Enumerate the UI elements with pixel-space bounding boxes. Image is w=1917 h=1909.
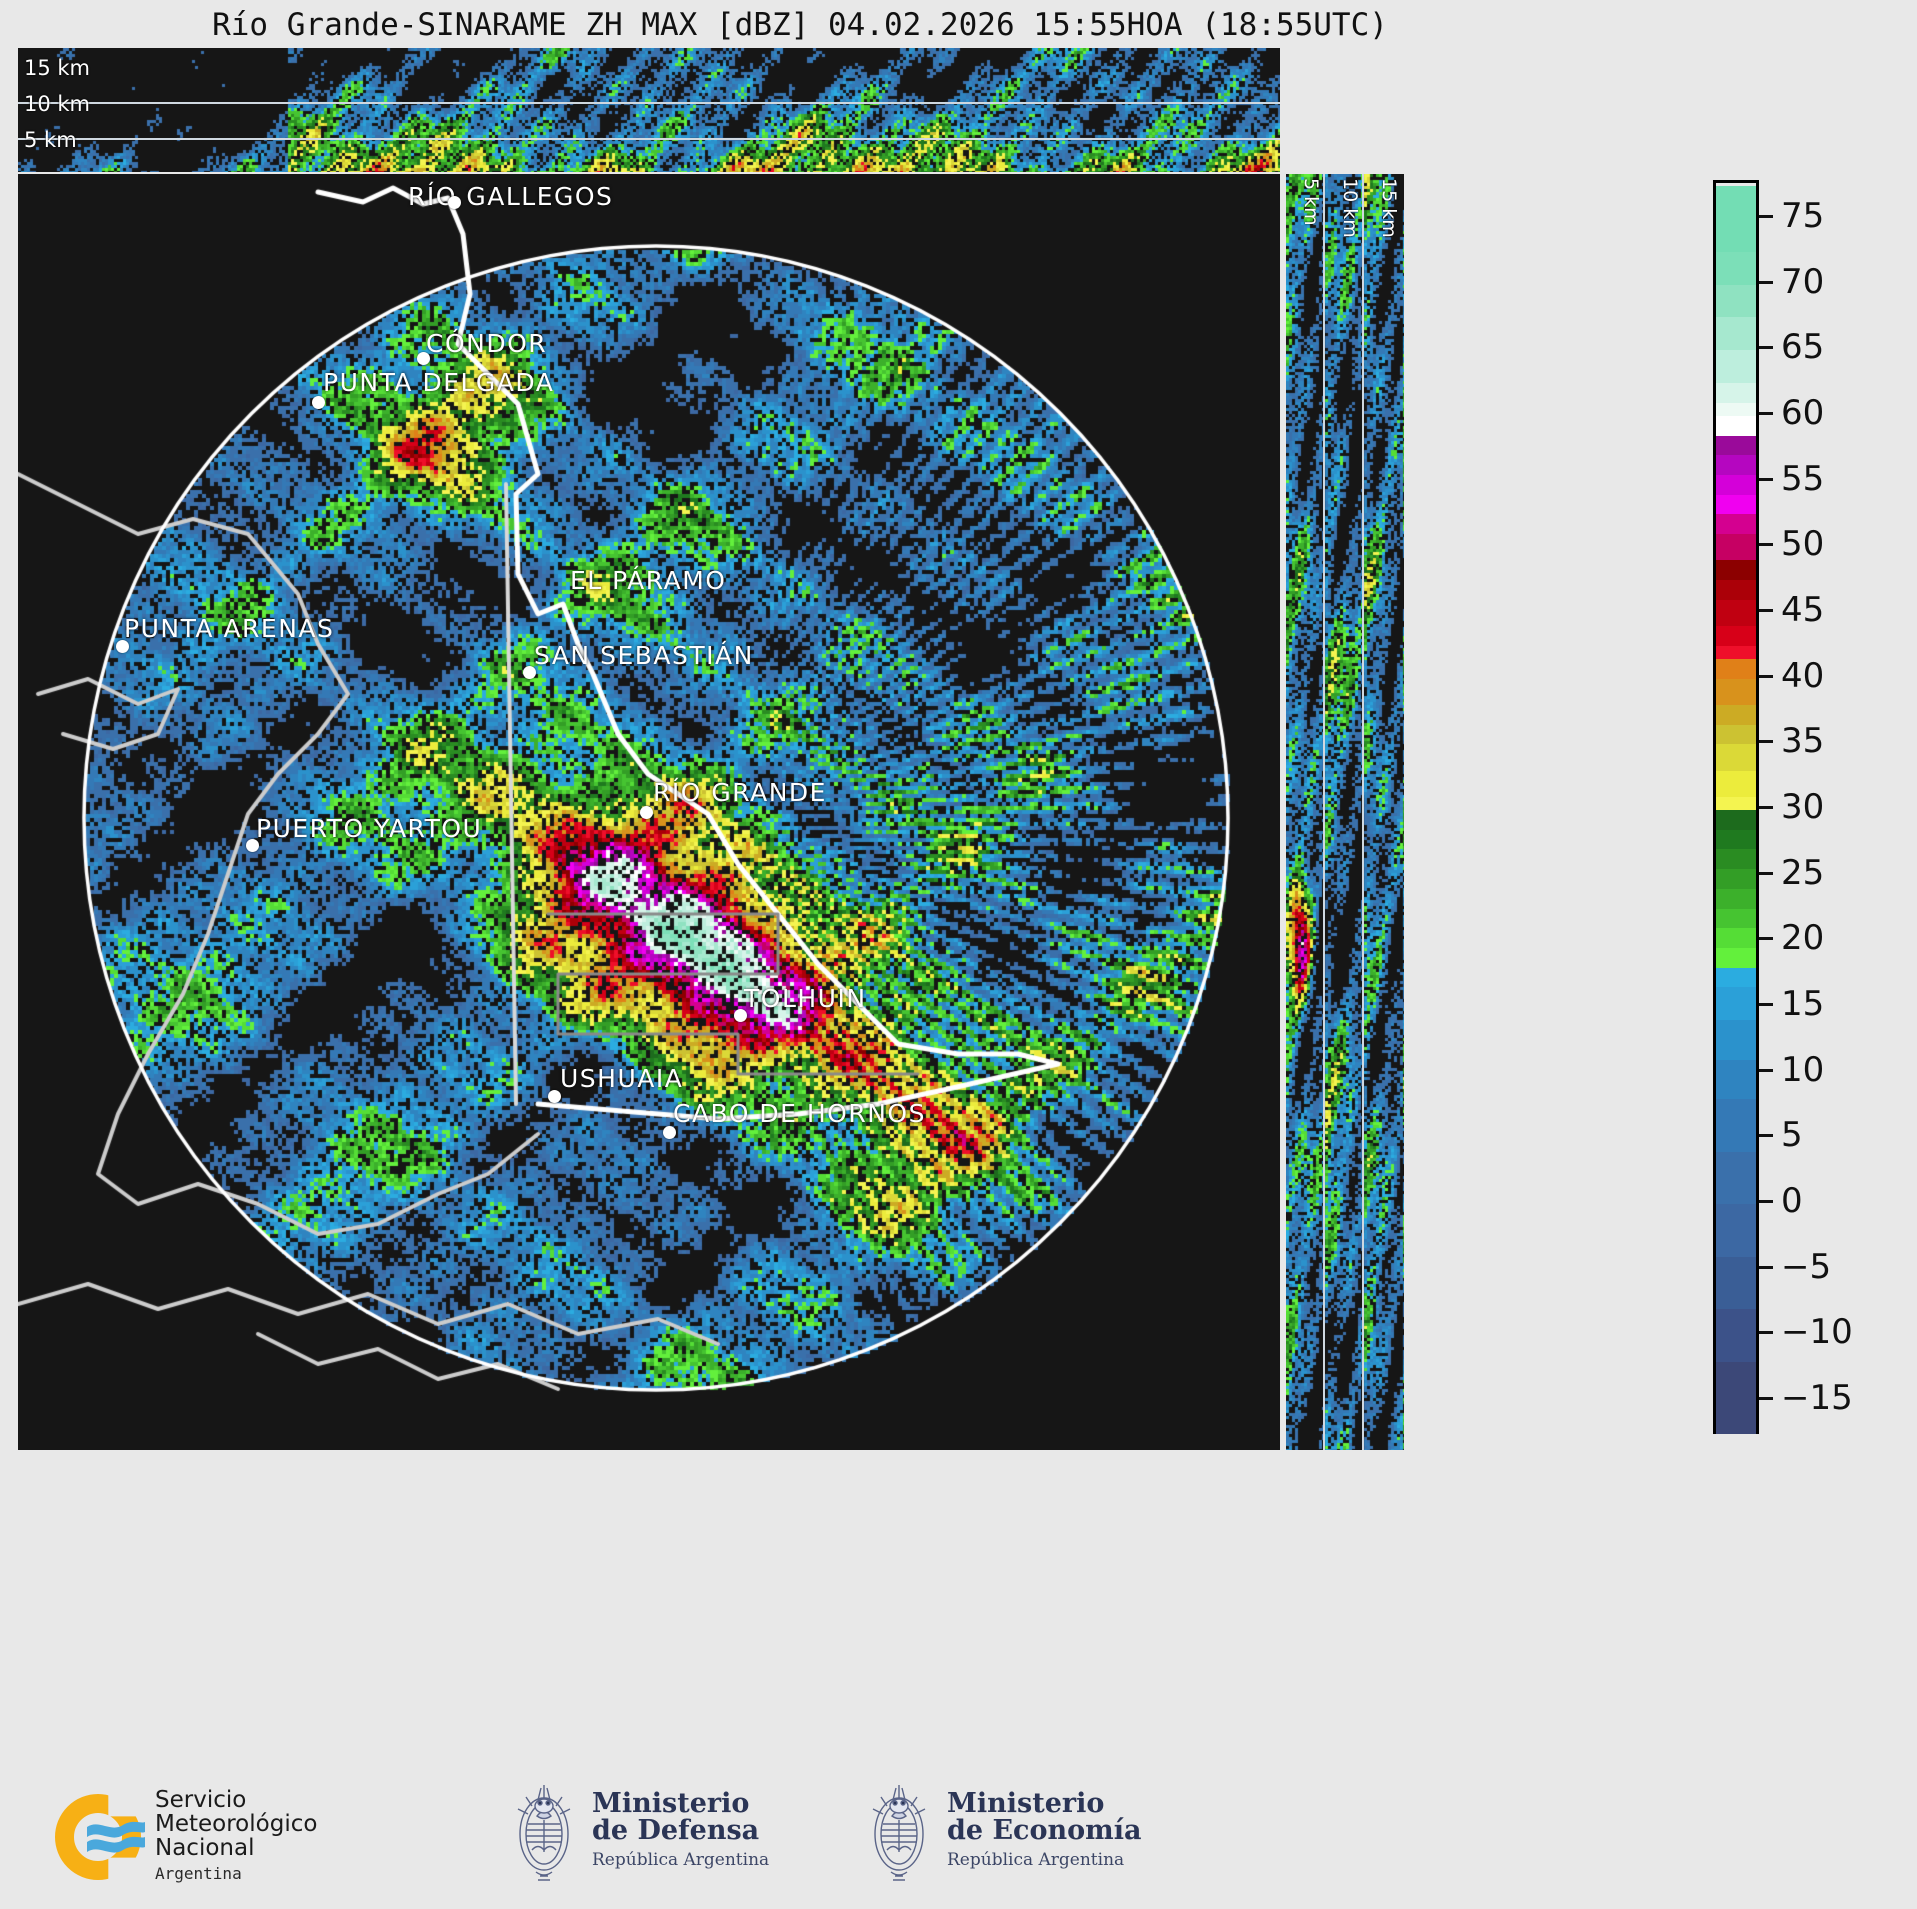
city-label-san-sebasti-n: SAN SEBASTIÁN	[534, 641, 754, 670]
economia-logo-text: Ministerio de Economía República Argenti…	[947, 1790, 1141, 1874]
colorbar-tick	[1759, 215, 1773, 218]
footer-logos: Servicio Meteorológico Nacional Argentin…	[0, 1770, 1600, 1909]
logo-servicio-meteorologico-nacional: Servicio Meteorológico Nacional Argentin…	[55, 1788, 317, 1886]
smn-logo-text: Servicio Meteorológico Nacional Argentin…	[155, 1788, 317, 1886]
colorbar-segment	[1716, 725, 1756, 745]
colorbar-tick	[1759, 675, 1773, 678]
colorbar-segment	[1716, 403, 1756, 416]
colorbar-segment	[1716, 1060, 1756, 1099]
colorbar-tick-label: 50	[1781, 524, 1824, 564]
colorbar-tick	[1759, 740, 1773, 743]
smn-sub: Argentina	[155, 1862, 317, 1886]
city-marker-punta-arenas	[116, 640, 129, 653]
altitude-gridline-10km	[18, 102, 1280, 104]
colorbar-tick-label: 0	[1781, 1181, 1803, 1221]
colorbar-legend: 757065605550454035302520151050−5−10−15	[1713, 180, 1913, 1434]
city-label-punta-arenas: PUNTA ARENAS	[124, 614, 334, 643]
colorbar-segment	[1716, 771, 1756, 797]
colorbar-tick-label: −15	[1781, 1378, 1853, 1418]
colorbar-tick-label: 55	[1781, 459, 1824, 499]
colorbar-segment	[1716, 317, 1756, 350]
colorbar-tick	[1759, 1003, 1773, 1006]
colorbar-tick	[1759, 1069, 1773, 1072]
defensa-line-1: Ministerio	[592, 1790, 769, 1817]
colorbar-segment	[1716, 810, 1756, 830]
colorbar-segment	[1716, 1309, 1756, 1362]
argentina-flag-icon	[85, 1818, 147, 1856]
colorbar-segment	[1716, 1204, 1756, 1257]
colorbar-tick-label: 65	[1781, 327, 1824, 367]
city-label-r-o-grande: RÍO GRANDE	[653, 778, 827, 807]
colorbar-tick	[1759, 1200, 1773, 1203]
colorbar-segment	[1716, 928, 1756, 948]
right-cross-section-canvas	[1286, 174, 1404, 1450]
colorbar-segment	[1716, 679, 1756, 705]
altitude-gridline-5km	[18, 138, 1280, 140]
altitude-gridline-right-1	[1323, 174, 1325, 1450]
colorbar-tick	[1759, 1266, 1773, 1269]
colorbar-tick-label: 60	[1781, 393, 1824, 433]
colorbar-segment	[1716, 1362, 1756, 1434]
city-marker-c-ndor	[417, 352, 430, 365]
colorbar-tick	[1759, 346, 1773, 349]
colorbar-segment	[1716, 869, 1756, 889]
colorbar-segment	[1716, 186, 1756, 252]
city-marker-r-o-grande	[640, 806, 653, 819]
colorbar-segment	[1716, 475, 1756, 495]
colorbar-segment	[1716, 285, 1756, 318]
colorbar-tick	[1759, 478, 1773, 481]
city-label-ushuaia: USHUAIA	[560, 1064, 683, 1093]
city-marker-cabo-de-hornos	[663, 1126, 676, 1139]
colorbar-tick-label: 15	[1781, 984, 1824, 1024]
colorbar-segment	[1716, 560, 1756, 580]
colorbar-tick	[1759, 1331, 1773, 1334]
colorbar-segment	[1716, 495, 1756, 515]
colorbar-tick-label: 40	[1781, 656, 1824, 696]
smn-line-3: Nacional	[155, 1836, 317, 1860]
city-marker-san-sebasti-n	[523, 666, 536, 679]
colorbar-segment	[1716, 534, 1756, 560]
defensa-logo-text: Ministerio de Defensa República Argentin…	[592, 1790, 769, 1874]
colorbar-segment	[1716, 455, 1756, 475]
colorbar-tick	[1759, 543, 1773, 546]
altitude-label-right-15km: 15 km	[1378, 178, 1400, 238]
colorbar-segment	[1716, 350, 1756, 383]
altitude-label-15km: 15 km	[24, 56, 90, 80]
colorbar-tick-label: 35	[1781, 721, 1824, 761]
colorbar-segment	[1716, 252, 1756, 285]
colorbar-segment	[1716, 987, 1756, 1020]
city-marker-tolhuin	[734, 1009, 747, 1022]
colorbar-tick	[1759, 872, 1773, 875]
logo-ministerio-de-economia: Ministerio de Economía República Argenti…	[865, 1780, 1141, 1884]
colorbar-tick	[1759, 281, 1773, 284]
colorbar-tick-label: 75	[1781, 196, 1824, 236]
page-title: Río Grande-SINARAME ZH MAX [dBZ] 04.02.2…	[0, 2, 1600, 48]
colorbar-segment	[1716, 889, 1756, 909]
colorbar-segment	[1716, 659, 1756, 679]
colorbar-segment	[1716, 416, 1756, 436]
city-label-el-p-ramo: EL PÁRAMO	[570, 566, 726, 595]
colorbar-segment	[1716, 830, 1756, 850]
city-label-r-o-gallegos: RÍO GALLEGOS	[408, 182, 613, 211]
colorbar-segment	[1716, 797, 1756, 810]
city-marker-ushuaia	[548, 1090, 561, 1103]
colorbar-tick-label: 5	[1781, 1115, 1803, 1155]
colorbar-tick	[1759, 609, 1773, 612]
colorbar-segment	[1716, 514, 1756, 534]
altitude-label-10km: 10 km	[24, 92, 90, 116]
city-label-punta-delgada: PUNTA DELGADA	[323, 368, 554, 397]
colorbar-segment	[1716, 626, 1756, 646]
colorbar-segment	[1716, 436, 1756, 456]
colorbar-tick-label: −5	[1781, 1247, 1831, 1287]
smn-line-2: Meteorológico	[155, 1812, 317, 1836]
colorbar-tick	[1759, 937, 1773, 940]
colorbar-tick-label: −10	[1781, 1312, 1853, 1352]
argentina-coat-of-arms-icon	[510, 1780, 578, 1884]
defensa-line-2: de Defensa	[592, 1817, 769, 1844]
colorbar-segment	[1716, 705, 1756, 725]
logo-ministerio-de-defensa: Ministerio de Defensa República Argentin…	[510, 1780, 769, 1884]
defensa-sub: República Argentina	[592, 1847, 769, 1874]
colorbar-tick	[1759, 1397, 1773, 1400]
city-marker-punta-delgada	[312, 396, 325, 409]
colorbar-segment	[1716, 646, 1756, 659]
colorbar-segment	[1716, 600, 1756, 626]
colorbar-gradient	[1713, 180, 1759, 1434]
right-cross-section-panel: 5 km 10 km 15 km	[1286, 174, 1404, 1450]
colorbar-tick-label: 20	[1781, 918, 1824, 958]
city-label-puerto-yartou: PUERTO YARTOU	[256, 814, 482, 843]
city-label-cabo-de-hornos: CABO DE HORNOS	[673, 1099, 926, 1128]
colorbar-segment	[1716, 383, 1756, 403]
colorbar-segment	[1716, 1257, 1756, 1310]
altitude-label-right-5km: 5 km	[1300, 178, 1322, 226]
colorbar-segment	[1716, 1152, 1756, 1205]
smn-line-1: Servicio	[155, 1788, 317, 1812]
altitude-label-5km: 5 km	[24, 128, 77, 152]
colorbar-segment	[1716, 1099, 1756, 1152]
top-cross-section-panel: 15 km 10 km 5 km	[18, 48, 1280, 172]
colorbar-tick	[1759, 806, 1773, 809]
city-label-tolhuin: TOLHUIN	[744, 984, 867, 1013]
colorbar-tick-label: 70	[1781, 262, 1824, 302]
radar-ppi-panel[interactable]: RÍO GALLEGOSCÓNDORPUNTA DELGADAEL PÁRAMO…	[18, 174, 1280, 1450]
colorbar-tick-label: 25	[1781, 853, 1824, 893]
colorbar-segment	[1716, 968, 1756, 988]
economia-sub: República Argentina	[947, 1847, 1141, 1874]
colorbar-segment	[1716, 909, 1756, 929]
city-marker-puerto-yartou	[246, 839, 259, 852]
economia-line-1: Ministerio	[947, 1790, 1141, 1817]
colorbar-tick-label: 10	[1781, 1050, 1824, 1090]
colorbar-tick-label: 30	[1781, 787, 1824, 827]
city-label-c-ndor: CÓNDOR	[426, 329, 547, 358]
colorbar-segment	[1716, 948, 1756, 968]
colorbar-segment	[1716, 849, 1756, 869]
smn-logo-icon	[55, 1794, 141, 1880]
argentina-coat-of-arms-icon-2	[865, 1780, 933, 1884]
altitude-gridline-right-2	[1362, 174, 1364, 1450]
colorbar-tick-label: 45	[1781, 590, 1824, 630]
economia-line-2: de Economía	[947, 1817, 1141, 1844]
top-cross-section-canvas	[18, 48, 1280, 172]
city-marker-r-o-gallegos	[448, 196, 461, 209]
colorbar-segment	[1716, 744, 1756, 770]
altitude-label-right-10km: 10 km	[1339, 178, 1361, 238]
colorbar-segment	[1716, 1020, 1756, 1059]
colorbar-tick	[1759, 1134, 1773, 1137]
colorbar-segment	[1716, 580, 1756, 600]
colorbar-tick	[1759, 412, 1773, 415]
